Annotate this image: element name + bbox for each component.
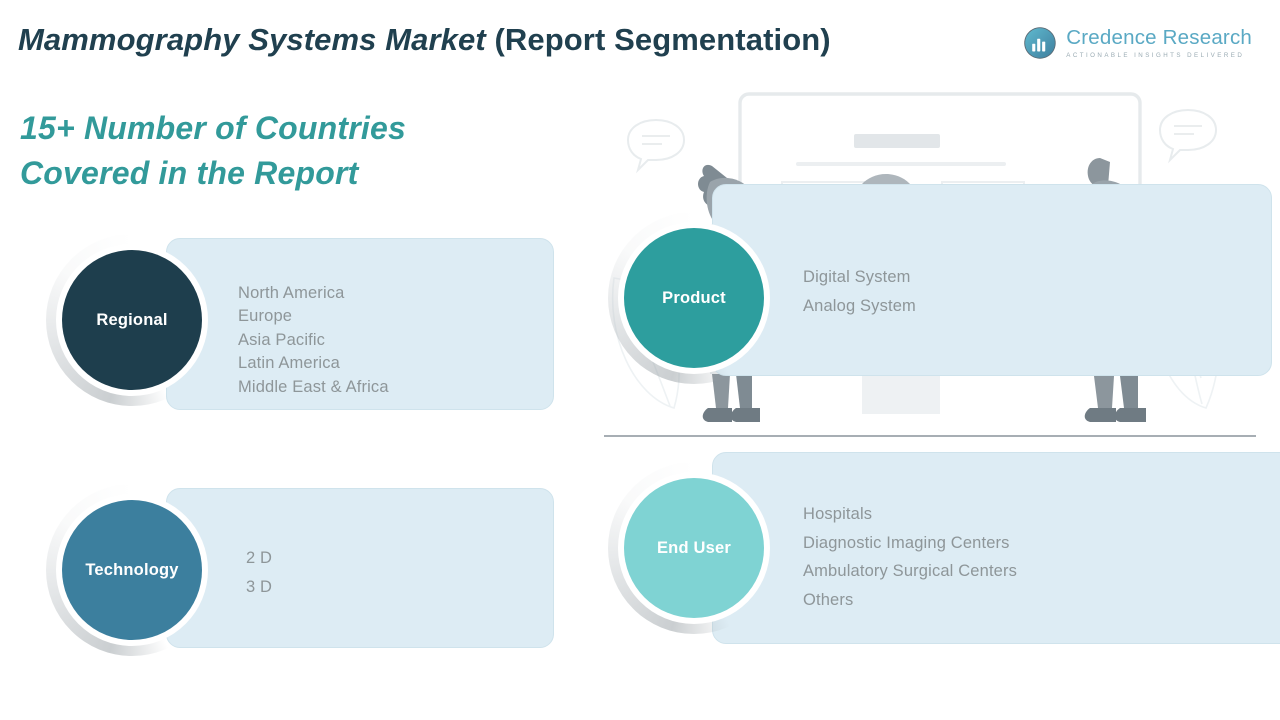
segment-item: Latin America [238,352,389,375]
logo-company-name: Credence Research [1066,27,1252,49]
logo-name-light: Research [1157,26,1252,49]
logo-text: Credence Research Actionable Insights De… [1066,27,1252,58]
brand-logo: Credence Research Actionable Insights De… [1023,26,1252,60]
segment-item: Digital System [803,263,916,292]
segment-item: Analog System [803,292,916,321]
segment-item: Others [803,586,1017,615]
segment-label-enduser: End User [657,539,731,558]
segment-items-technology: 2 D 3 D [246,544,272,601]
screen-title-bar [854,134,940,148]
segment-item: 2 D [246,544,272,573]
segment-circle-regional[interactable]: Regional [62,250,202,390]
segment-label-technology: Technology [85,561,178,580]
segment-items-regional: North America Europe Asia Pacific Latin … [238,282,389,399]
screen-text-line [796,162,1006,166]
slide-canvas: Mammography Systems Market (Report Segme… [0,0,1280,720]
segment-circle-enduser[interactable]: End User [624,478,764,618]
segment-panel-product [712,184,1272,376]
logo-tagline: Actionable Insights Delivered [1066,52,1252,59]
segment-circle-technology[interactable]: Technology [62,500,202,640]
logo-name-bold: Credence [1066,26,1157,49]
segment-circle-product[interactable]: Product [624,228,764,368]
speech-bubble-right [1160,110,1216,160]
segment-label-product: Product [662,289,726,308]
bar-chart-circle-icon [1023,26,1057,60]
segment-item: Europe [238,305,389,328]
segment-panel-technology [166,488,554,648]
segment-item: North America [238,282,389,305]
headline-countries-covered: 15+ Number of Countries Covered in the R… [20,106,406,196]
segment-item: Diagnostic Imaging Centers [803,529,1017,558]
segment-item: Middle East & Africa [238,376,389,399]
page-title: Mammography Systems Market (Report Segme… [18,22,831,58]
segment-item: 3 D [246,573,272,602]
page-title-parenthetical: (Report Segmentation) [494,22,830,57]
segment-items-enduser: Hospitals Diagnostic Imaging Centers Amb… [803,500,1017,614]
segment-item: Hospitals [803,500,1017,529]
segment-label-regional: Regional [96,311,167,330]
segment-items-product: Digital System Analog System [803,263,916,320]
segment-item: Ambulatory Surgical Centers [803,557,1017,586]
speech-bubble-left [628,120,684,170]
page-title-main: Mammography Systems Market [18,22,494,57]
segment-item: Asia Pacific [238,329,389,352]
